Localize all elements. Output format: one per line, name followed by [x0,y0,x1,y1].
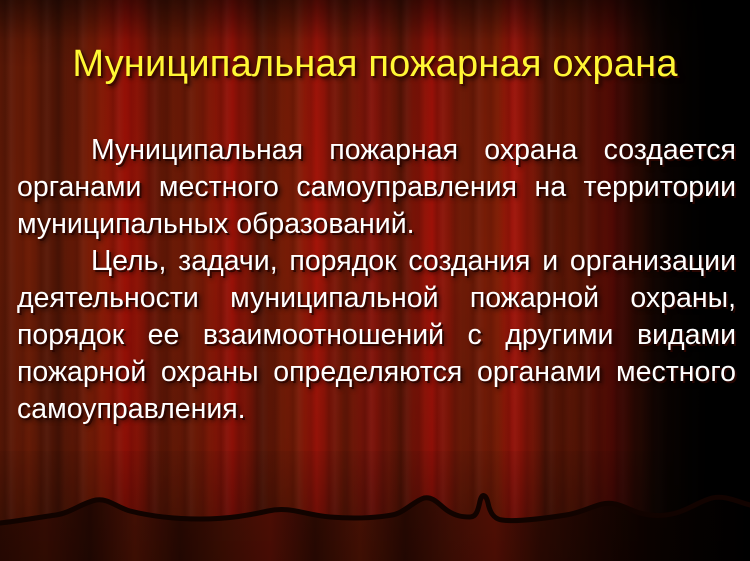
slide-title: Муниципальная пожарная охрана [0,41,750,87]
body-paragraph-2: Цель, задачи, порядок создания и организ… [17,243,736,428]
slide-body: Муниципальная пожарная охрана создается … [17,132,736,428]
presentation-slide: Муниципальная пожарная охрана Муниципаль… [0,0,750,561]
body-paragraph-1: Муниципальная пожарная охрана создается … [17,132,736,243]
